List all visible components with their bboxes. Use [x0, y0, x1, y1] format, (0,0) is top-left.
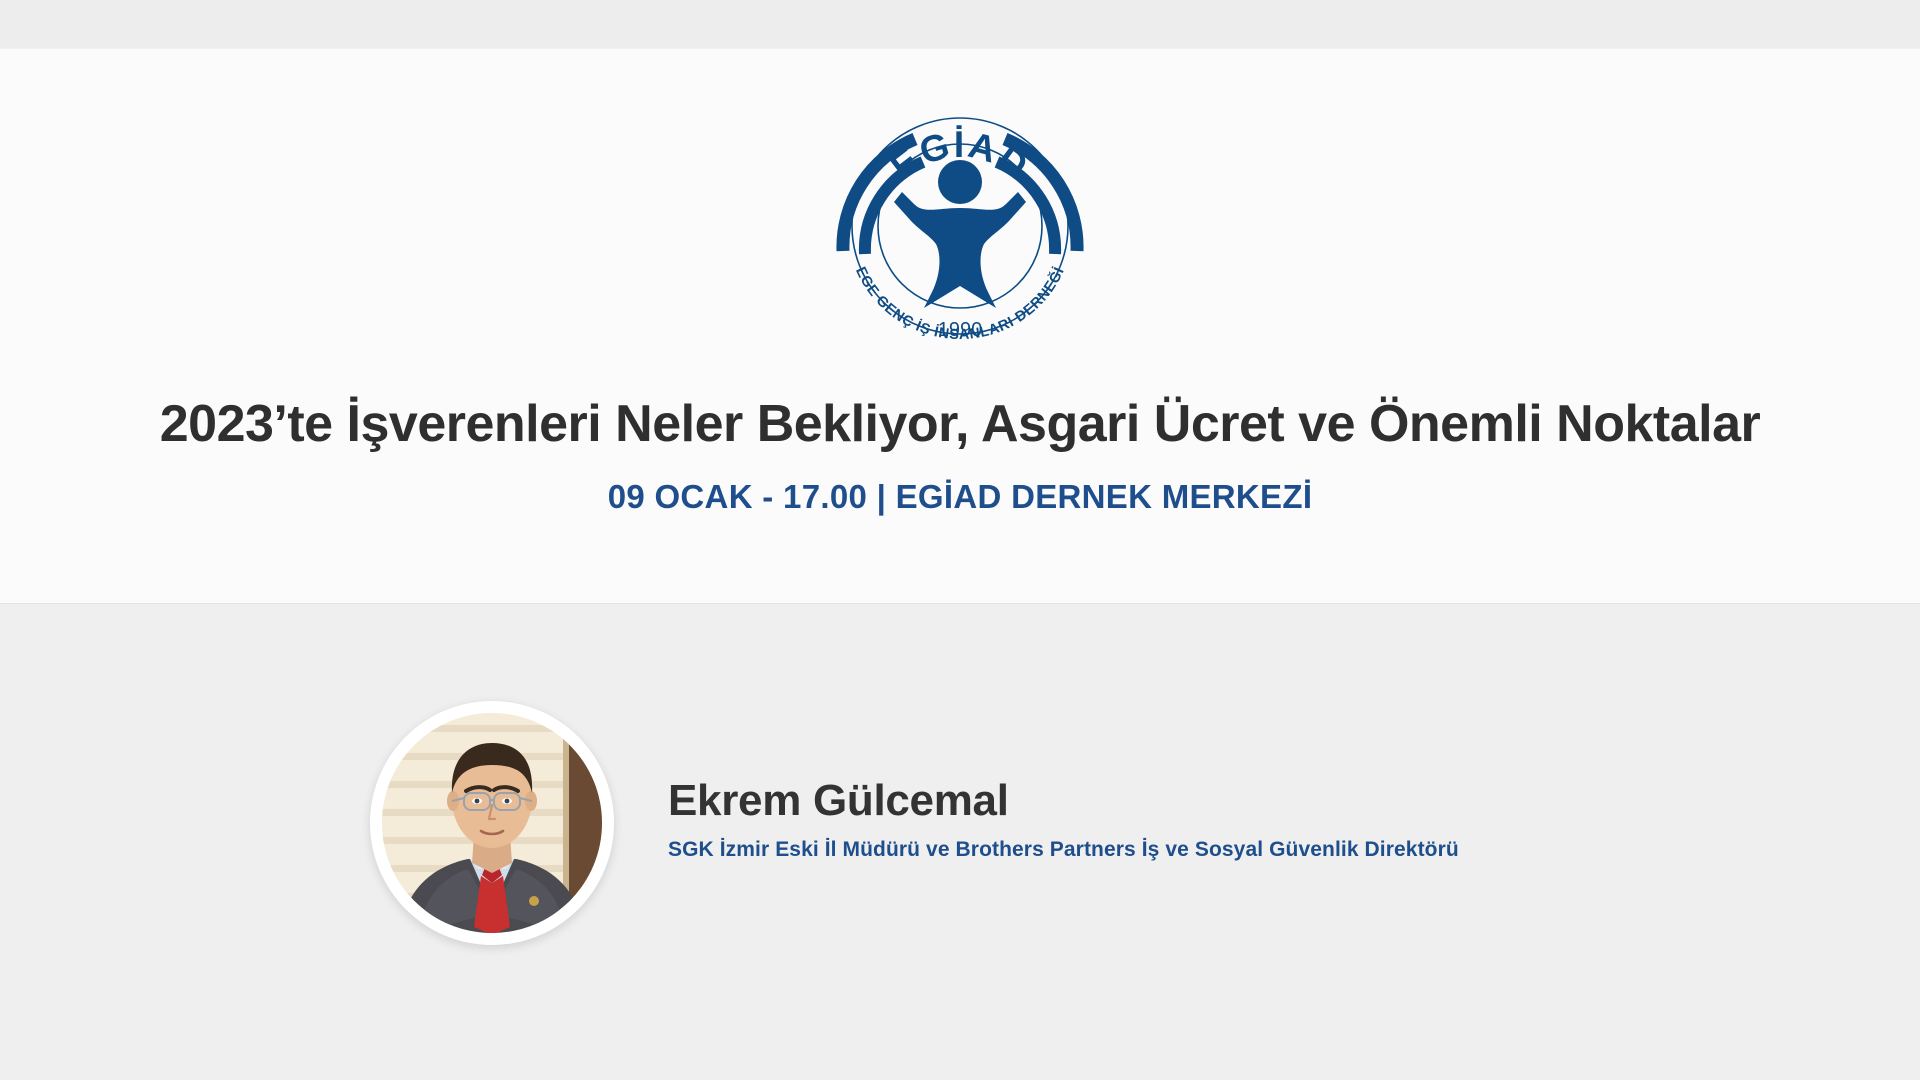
headline-block: 2023’te İşverenleri Neler Bekliyor, Asga… — [0, 396, 1920, 516]
speaker-role: SGK İzmir Eski İl Müdürü ve Brothers Par… — [668, 824, 1459, 862]
avatar — [370, 701, 614, 945]
background-band-top — [0, 0, 1920, 48]
avatar-photo — [382, 713, 602, 933]
event-banner: EGİAD EGE GENÇ İŞ İNSANLARI DERNEĞİ 1990… — [0, 0, 1920, 1080]
speaker-text: Ekrem Gülcemal SGK İzmir Eski İl Müdürü … — [614, 778, 1459, 868]
event-subtitle: 09 OCAK - 17.00 | EGİAD DERNEK MERKEZİ — [0, 452, 1920, 516]
egiad-logo: EGİAD EGE GENÇ İŞ İNSANLARI DERNEĞİ 1990 — [820, 86, 1100, 366]
band-divider-bottom — [0, 603, 1920, 604]
speaker-block: Ekrem Gülcemal SGK İzmir Eski İl Müdürü … — [370, 698, 1670, 948]
speaker-name: Ekrem Gülcemal — [668, 778, 1459, 824]
event-title: 2023’te İşverenleri Neler Bekliyor, Asga… — [0, 396, 1920, 452]
logo-year: 1990 — [938, 319, 983, 341]
band-divider-top — [0, 48, 1920, 49]
